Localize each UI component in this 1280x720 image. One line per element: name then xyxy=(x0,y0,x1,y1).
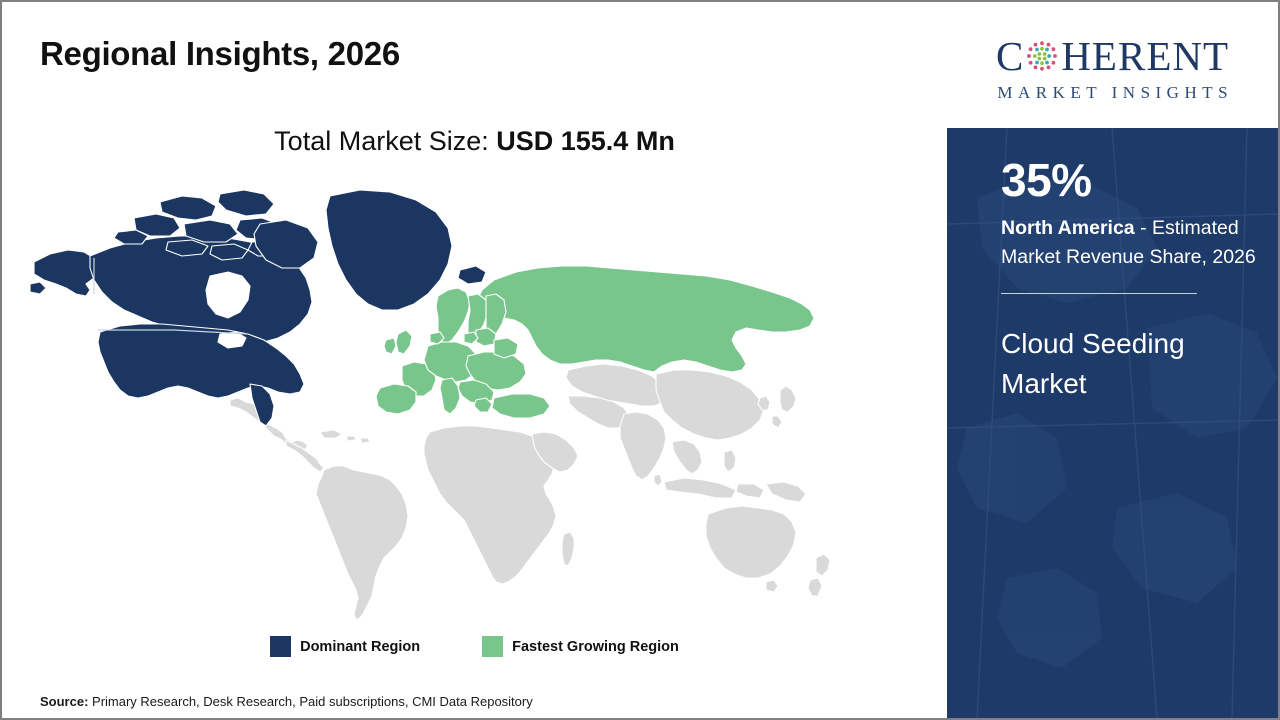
stat-percent-value: 35% xyxy=(1001,156,1278,204)
source-note: Source: Primary Research, Desk Research,… xyxy=(40,694,533,709)
market-size-value: USD 155.4 Mn xyxy=(496,126,675,156)
legend-swatch-dominant xyxy=(270,636,291,657)
legend-item-dominant: Dominant Region xyxy=(270,636,420,657)
globe-icon xyxy=(1024,38,1060,74)
total-market-size: Total Market Size: USD 155.4 Mn xyxy=(2,126,947,157)
page-title: Regional Insights, 2026 xyxy=(40,35,400,73)
map-legend: Dominant Region Fastest Growing Region xyxy=(2,636,947,657)
logo-letter-c: C xyxy=(996,36,1024,77)
source-text: Primary Research, Desk Research, Paid su… xyxy=(88,694,532,709)
legend-label-dominant: Dominant Region xyxy=(300,639,420,655)
stat-region-name: North America xyxy=(1001,217,1135,239)
legend-item-fastest-growing: Fastest Growing Region xyxy=(482,636,679,657)
world-map xyxy=(24,184,904,624)
stat-caption: North America - Estimated Market Revenue… xyxy=(1001,214,1267,271)
stat-content: 35% North America - Estimated Market Rev… xyxy=(1001,156,1278,403)
stat-card: 35% North America - Estimated Market Rev… xyxy=(947,128,1278,718)
legend-label-fastest-growing: Fastest Growing Region xyxy=(512,639,679,655)
logo-letters-herent: HERENT xyxy=(1061,36,1229,77)
stat-divider xyxy=(1001,293,1197,294)
left-content-panel: Regional Insights, 2026 Total Market Siz… xyxy=(2,2,947,718)
world-map-svg xyxy=(24,184,904,624)
market-size-label: Total Market Size: xyxy=(274,126,496,156)
company-logo: C xyxy=(947,22,1278,114)
source-label: Source: xyxy=(40,694,88,709)
logo-wordmark: C xyxy=(996,36,1229,77)
right-sidebar: C xyxy=(947,2,1278,718)
market-name: Cloud Seeding Market xyxy=(1001,324,1251,404)
logo-tagline: MARKET INSIGHTS xyxy=(992,84,1233,101)
infographic-slide: Regional Insights, 2026 Total Market Siz… xyxy=(0,0,1280,720)
legend-swatch-fastest-growing xyxy=(482,636,503,657)
